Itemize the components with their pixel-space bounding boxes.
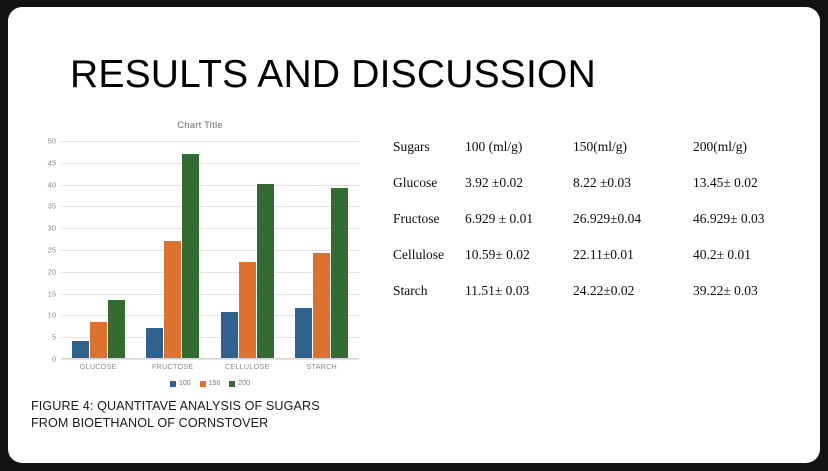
- table-row: Starch11.51± 0.0324.22±0.0239.22± 0.03: [393, 283, 798, 319]
- chart-bar[interactable]: [221, 312, 238, 358]
- table-cell-200: 46.929± 0.03: [693, 211, 798, 247]
- table-header-200: 200(ml/g): [693, 139, 798, 175]
- chart-y-tick-label: 5: [52, 333, 56, 342]
- chart-legend-item[interactable]: 200: [229, 380, 250, 387]
- chart-bar[interactable]: [72, 341, 89, 358]
- chart-axis-baseline: [61, 358, 359, 359]
- table-cell-150: 8.22 ±0.03: [573, 175, 693, 211]
- chart-bar[interactable]: [331, 188, 348, 358]
- table-body: Sugars 100 (ml/g) 150(ml/g) 200(ml/g) Gl…: [393, 139, 798, 319]
- table-row: Glucose3.92 ±0.028.22 ±0.0313.45± 0.02: [393, 175, 798, 211]
- chart-y-tick-label: 45: [48, 158, 56, 167]
- page-title: RESULTS AND DISCUSSION: [70, 51, 596, 99]
- table-cell-sugar: Fructose: [393, 211, 465, 247]
- bar-chart[interactable]: Chart Title 05101520253035404550 GLUCOSE…: [30, 112, 370, 397]
- table-row: Cellulose10.59± 0.0222.11±0.0140.2± 0.01: [393, 247, 798, 283]
- table-cell-sugar: Starch: [393, 283, 465, 319]
- chart-y-tick-label: 35: [48, 202, 56, 211]
- chart-bar[interactable]: [146, 328, 163, 358]
- table-cell-100: 10.59± 0.02: [465, 247, 573, 283]
- legend-swatch-icon: [170, 381, 176, 387]
- chart-y-tick-label: 50: [48, 137, 56, 146]
- table-cell-150: 22.11±0.01: [573, 247, 693, 283]
- chart-title: Chart Title: [30, 120, 370, 131]
- chart-bar-group: [65, 141, 131, 358]
- chart-bars-layer: [61, 141, 359, 358]
- chart-legend-label: 100: [179, 380, 191, 387]
- table-cell-100: 3.92 ±0.02: [465, 175, 573, 211]
- chart-bar-group: [140, 141, 206, 358]
- chart-x-tick-label: CELLULOSE: [214, 362, 280, 371]
- table-cell-150: 26.929±0.04: [573, 211, 693, 247]
- chart-y-tick-label: 30: [48, 224, 56, 233]
- table-header-150: 150(ml/g): [573, 139, 693, 175]
- chart-legend-item[interactable]: 150: [200, 380, 221, 387]
- chart-x-tick-label: GLUCOSE: [65, 362, 131, 371]
- table-cell-150: 24.22±0.02: [573, 283, 693, 319]
- table-cell-sugar: Glucose: [393, 175, 465, 211]
- chart-bar-group: [289, 141, 355, 358]
- chart-bar[interactable]: [239, 262, 256, 358]
- table-header-100: 100 (ml/g): [465, 139, 573, 175]
- table-cell-100: 6.929 ± 0.01: [465, 211, 573, 247]
- chart-x-tick-label: STARCH: [289, 362, 355, 371]
- chart-legend-label: 200: [238, 380, 250, 387]
- chart-bar[interactable]: [313, 253, 330, 358]
- chart-y-tick-label: 25: [48, 246, 56, 255]
- chart-legend-item[interactable]: 100: [170, 380, 191, 387]
- sugars-data-table: Sugars 100 (ml/g) 150(ml/g) 200(ml/g) Gl…: [393, 139, 798, 319]
- table-cell-sugar: Cellulose: [393, 247, 465, 283]
- chart-y-tick-label: 0: [52, 355, 56, 364]
- chart-y-tick-label: 40: [48, 180, 56, 189]
- chart-bar-group: [214, 141, 280, 358]
- legend-swatch-icon: [229, 381, 235, 387]
- table-row: Fructose6.929 ± 0.0126.929±0.0446.929± 0…: [393, 211, 798, 247]
- chart-x-tick-label: FRUCTOSE: [140, 362, 206, 371]
- figure-caption: FIGURE 4: QUANTITAVE ANALYSIS OF SUGARS …: [31, 398, 341, 432]
- chart-y-tick-label: 15: [48, 289, 56, 298]
- chart-bar[interactable]: [295, 308, 312, 358]
- chart-bar[interactable]: [164, 241, 181, 358]
- table-cell-200: 13.45± 0.02: [693, 175, 798, 211]
- chart-bar[interactable]: [182, 154, 199, 358]
- chart-bar[interactable]: [108, 300, 125, 358]
- chart-legend-label: 150: [209, 380, 221, 387]
- chart-x-axis-labels: GLUCOSEFRUCTOSECELLULOSESTARCH: [61, 362, 359, 371]
- chart-bar[interactable]: [257, 184, 274, 358]
- chart-plot-area: 05101520253035404550: [61, 141, 359, 359]
- slide-canvas: RESULTS AND DISCUSSION Chart Title 05101…: [8, 7, 820, 463]
- table-header-sugars: Sugars: [393, 139, 465, 175]
- chart-y-tick-label: 10: [48, 311, 56, 320]
- chart-legend[interactable]: 100150200: [61, 380, 359, 387]
- table-header-row: Sugars 100 (ml/g) 150(ml/g) 200(ml/g): [393, 139, 798, 175]
- chart-gridline: 0: [61, 359, 359, 360]
- table-cell-100: 11.51± 0.03: [465, 283, 573, 319]
- chart-bar[interactable]: [90, 322, 107, 358]
- chart-y-tick-label: 20: [48, 267, 56, 276]
- table-cell-200: 39.22± 0.03: [693, 283, 798, 319]
- table-cell-200: 40.2± 0.01: [693, 247, 798, 283]
- legend-swatch-icon: [200, 381, 206, 387]
